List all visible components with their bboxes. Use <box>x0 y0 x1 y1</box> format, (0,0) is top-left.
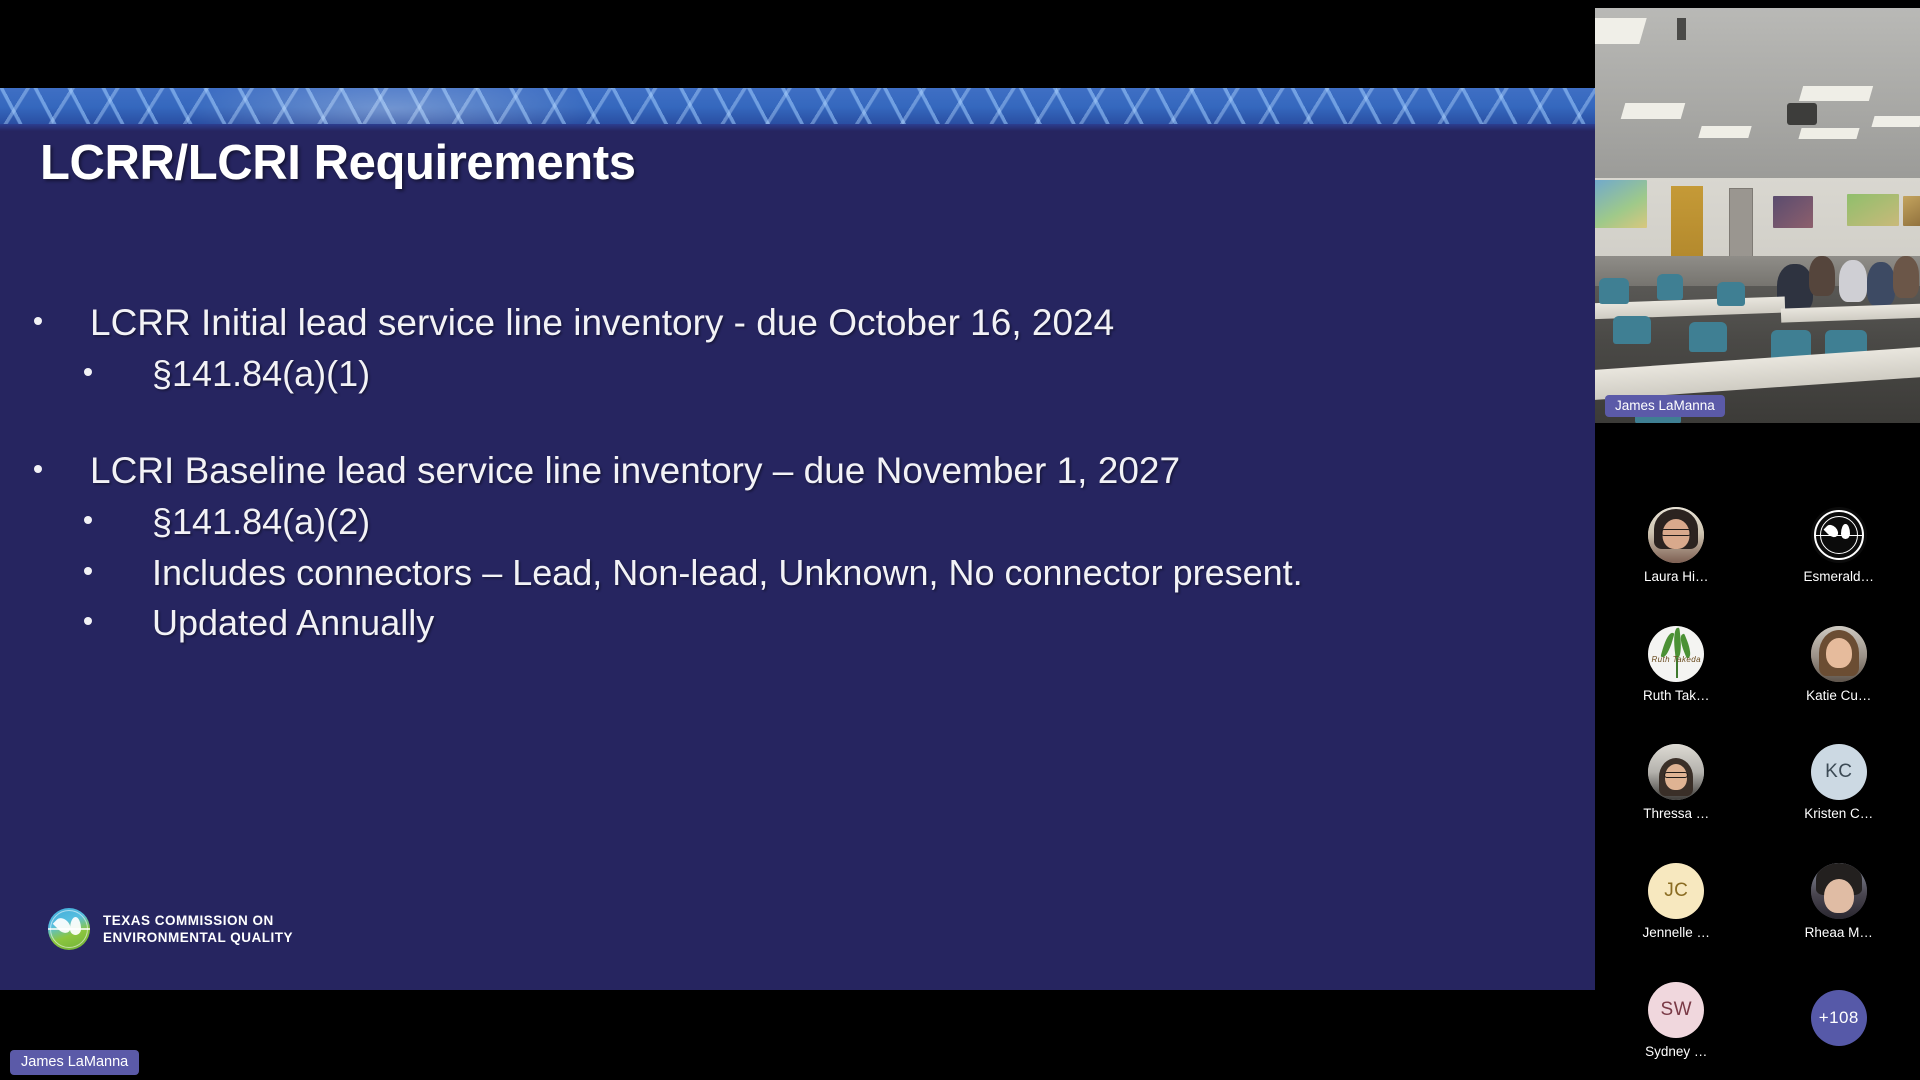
ceiling-projector <box>1787 103 1817 125</box>
participant-tile[interactable]: JC Jennelle … <box>1595 863 1758 940</box>
wall-artwork <box>1903 196 1920 226</box>
bullet-dot-icon <box>34 465 42 473</box>
avatar[interactable] <box>1811 507 1867 563</box>
participant-name: Laura Hi… <box>1644 569 1709 584</box>
participant-name: Sydney … <box>1645 1044 1707 1059</box>
participant-tile[interactable]: SW Sydney … <box>1595 982 1758 1059</box>
leaf-icon <box>70 917 81 935</box>
ceiling-light <box>1595 18 1647 44</box>
slide-top-letterbox <box>0 0 1595 88</box>
room-doorway <box>1729 188 1753 262</box>
chair <box>1657 274 1683 300</box>
bullet-text: Updated Annually <box>152 602 434 643</box>
bullet-dot-icon <box>84 516 92 524</box>
avatar-initials: SW <box>1661 999 1692 1021</box>
page-title: LCRR/LCRI Requirements <box>40 135 1440 191</box>
avatar-face <box>1826 638 1852 668</box>
conference-table-front <box>1595 345 1920 401</box>
ceiling-light <box>1621 103 1686 119</box>
participant-tile[interactable]: Rheaa M… <box>1758 863 1920 940</box>
banner-base-edge <box>0 124 1595 131</box>
screen-root: LCRR/LCRI Requirements LCRR Initial lead… <box>0 0 1920 1080</box>
participant-name: Katie Cu… <box>1806 688 1871 703</box>
avatar-glasses-icon <box>1661 529 1691 536</box>
avatar-face <box>1824 879 1854 913</box>
participant-name: Ruth Tak… <box>1643 688 1710 703</box>
wall-artwork <box>1773 196 1813 228</box>
room-door <box>1671 186 1703 264</box>
participant-tile[interactable]: KC Kristen C… <box>1758 744 1920 821</box>
slide-body: LCRR Initial lead service line inventory… <box>0 300 1595 647</box>
room-ceiling <box>1595 8 1920 180</box>
ceiling-light <box>1799 86 1873 101</box>
attendee <box>1867 262 1895 306</box>
avatar-initials: KC <box>1825 761 1852 783</box>
avatar-signature-text: Ruth Takeda <box>1652 655 1701 664</box>
tceq-logo-line1: TEXAS COMMISSION ON <box>103 912 293 929</box>
avatar[interactable] <box>1648 507 1704 563</box>
tceq-footer-logo: TEXAS COMMISSION ON ENVIRONMENTAL QUALIT… <box>48 908 293 950</box>
tceq-logo-text: TEXAS COMMISSION ON ENVIRONMENTAL QUALIT… <box>103 912 293 947</box>
bullet-level2: §141.84(a)(1) <box>0 351 1595 398</box>
avatar-initials: JC <box>1664 880 1688 902</box>
bullet-dot-icon <box>84 617 92 625</box>
participant-name: Kristen C… <box>1804 806 1873 821</box>
bullet-level2: §141.84(a)(2) <box>0 499 1595 546</box>
bullet-text: §141.84(a)(1) <box>152 353 370 394</box>
attendee <box>1839 260 1867 302</box>
avatar-glasses-icon <box>1664 772 1688 778</box>
participant-name: Rheaa M… <box>1805 925 1873 940</box>
bullet-level1: LCRR Initial lead service line inventory… <box>0 300 1595 347</box>
avatar[interactable] <box>1811 626 1867 682</box>
avatar[interactable] <box>1648 744 1704 800</box>
participant-overflow-tile[interactable]: +108 <box>1758 990 1920 1052</box>
avatar[interactable]: Ruth Takeda <box>1648 626 1704 682</box>
ceiling-light <box>1798 128 1859 139</box>
participant-tile[interactable]: Laura Hi… <box>1595 507 1758 584</box>
participant-tile[interactable]: Esmerald… <box>1758 507 1920 584</box>
chair <box>1717 282 1745 306</box>
participant-tile[interactable]: Thressa … <box>1595 744 1758 821</box>
bullet-text: LCRR Initial lead service line inventory… <box>90 302 1114 343</box>
bullet-level2: Updated Annually <box>0 600 1595 647</box>
video-participant-name-badge: James LaManna <box>1605 395 1725 417</box>
avatar[interactable]: KC <box>1811 744 1867 800</box>
participant-name: Esmerald… <box>1803 569 1874 584</box>
bullet-text: Includes connectors – Lead, Non-lead, Un… <box>152 552 1303 593</box>
bullet-level2: Includes connectors – Lead, Non-lead, Un… <box>0 550 1595 597</box>
tceq-water-drop-leaf-icon <box>48 908 90 950</box>
leaf-icon <box>1841 524 1850 539</box>
bullet-dot-icon <box>34 317 42 325</box>
ceiling-light <box>1698 126 1751 138</box>
participant-tile[interactable]: Katie Cu… <box>1758 626 1920 703</box>
tceq-logo-line2: ENVIRONMENTAL QUALITY <box>103 929 293 946</box>
bullet-text: LCRI Baseline lead service line inventor… <box>90 450 1180 491</box>
chair <box>1599 278 1629 304</box>
participant-tile[interactable]: Ruth Takeda Ruth Tak… <box>1595 626 1758 703</box>
ceiling-mount <box>1677 18 1686 40</box>
ceiling-light <box>1871 116 1920 127</box>
chair <box>1689 322 1727 352</box>
bullet-spacer <box>0 398 1595 448</box>
attendee <box>1893 256 1919 298</box>
avatar[interactable] <box>1811 863 1867 919</box>
overflow-count: +108 <box>1819 1008 1859 1028</box>
participant-name: Jennelle … <box>1642 925 1710 940</box>
avatar[interactable]: SW <box>1648 982 1704 1038</box>
bullet-dot-icon <box>84 567 92 575</box>
bullet-level1: LCRI Baseline lead service line inventor… <box>0 448 1595 495</box>
bullet-text: §141.84(a)(2) <box>152 501 370 542</box>
bullet-dot-icon <box>84 368 92 376</box>
tceq-seal-bar <box>1814 535 1864 537</box>
participant-grid[interactable]: Laura Hi… Esmerald… Ruth Takeda Ruth Ta <box>1595 486 1920 1080</box>
active-speaker-name-badge: James LaManna <box>10 1050 139 1075</box>
avatar[interactable]: JC <box>1648 863 1704 919</box>
wall-artwork <box>1595 180 1647 228</box>
attendee <box>1809 256 1835 296</box>
participant-name: Thressa … <box>1643 806 1709 821</box>
video-feed-tile[interactable]: James LaManna <box>1595 8 1920 423</box>
overflow-count-avatar[interactable]: +108 <box>1811 990 1867 1046</box>
chair <box>1613 316 1651 344</box>
presentation-slide[interactable]: LCRR/LCRI Requirements LCRR Initial lead… <box>0 0 1595 990</box>
wall-artwork <box>1847 194 1899 226</box>
